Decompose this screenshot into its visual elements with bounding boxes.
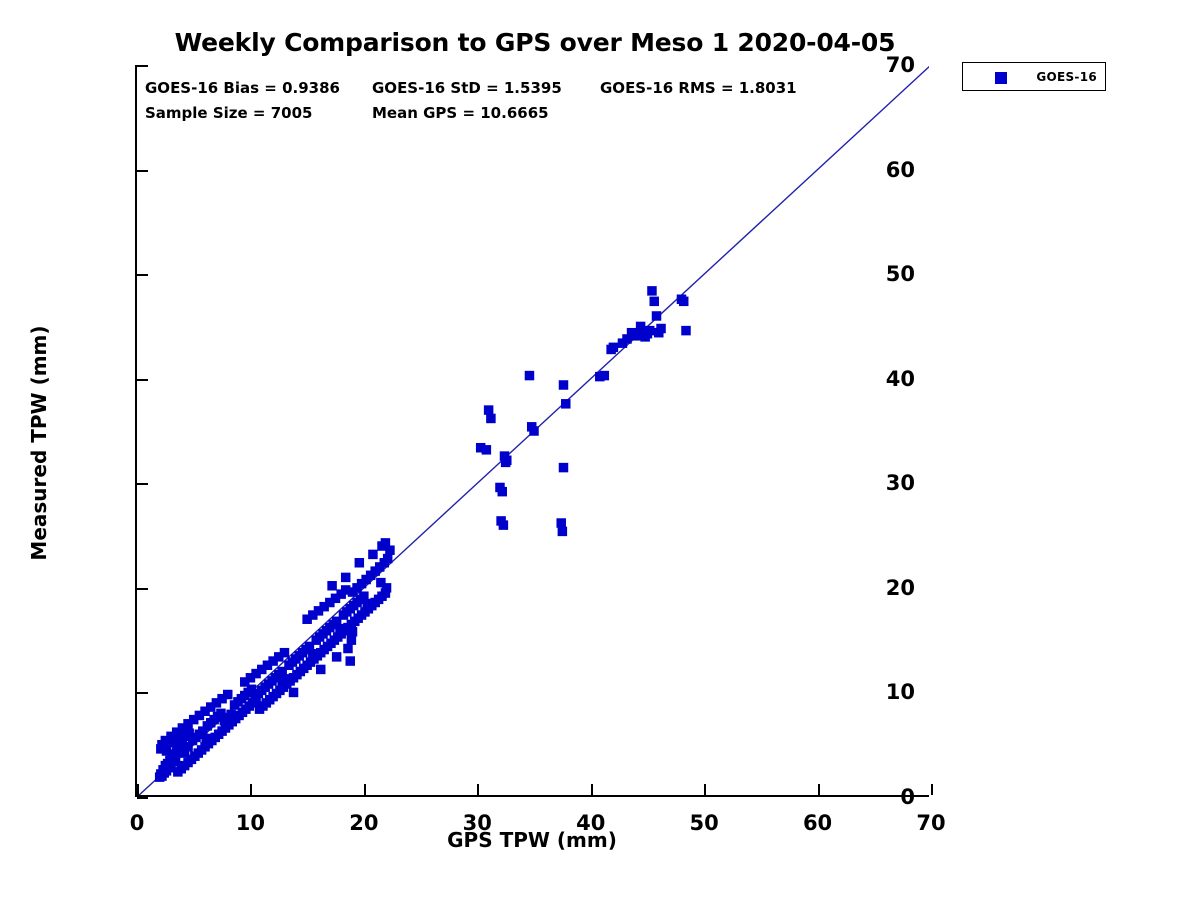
y-tick-label-0: 0 bbox=[900, 785, 915, 809]
chart-page: Weekly Comparison to GPS over Meso 1 202… bbox=[0, 0, 1200, 900]
x-axis-label: GPS TPW (mm) bbox=[135, 828, 929, 852]
x-tick-70 bbox=[931, 784, 933, 795]
stat-bias: GOES-16 Bias = 0.9386 bbox=[145, 79, 340, 97]
y-tick-label-20: 20 bbox=[886, 576, 915, 600]
y-tick-label-10: 10 bbox=[886, 680, 915, 704]
stat-sample-size: Sample Size = 7005 bbox=[145, 104, 312, 122]
legend-marker-goes-16 bbox=[995, 72, 1007, 84]
y-tick-label-70: 70 bbox=[886, 53, 915, 77]
chart-legend: GOES-16 bbox=[962, 62, 1106, 91]
legend-label-goes-16: GOES-16 bbox=[1036, 70, 1097, 84]
stat-rms: GOES-16 RMS = 1.8031 bbox=[600, 79, 797, 97]
axis-label-layer: 010203040506070010203040506070 bbox=[137, 65, 929, 795]
y-tick-label-30: 30 bbox=[886, 471, 915, 495]
stat-mean-gps: Mean GPS = 10.6665 bbox=[372, 104, 549, 122]
stat-std: GOES-16 StD = 1.5395 bbox=[372, 79, 562, 97]
y-tick-0 bbox=[137, 797, 148, 799]
y-tick-label-40: 40 bbox=[886, 367, 915, 391]
y-tick-label-60: 60 bbox=[886, 158, 915, 182]
y-axis-label: Measured TPW (mm) bbox=[27, 293, 51, 593]
plot-frame: 010203040506070010203040506070 bbox=[135, 65, 929, 797]
y-tick-label-50: 50 bbox=[886, 262, 915, 286]
